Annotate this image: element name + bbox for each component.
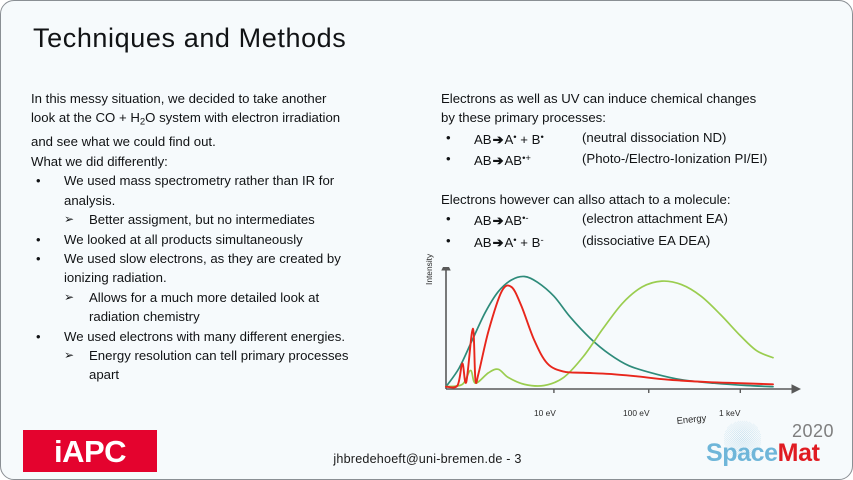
- intro-line-2-post: O system with electron irradiation: [145, 110, 340, 125]
- sub-list-item-label: Energy resolution can tell primary proce…: [89, 346, 429, 365]
- equation-reagent: AB: [474, 235, 492, 250]
- equation-description: (neutral dissociation ND): [582, 128, 849, 147]
- equation-product: AB: [505, 153, 523, 168]
- list-item-label: analysis.: [64, 191, 429, 210]
- bullet-marker: •: [31, 230, 64, 249]
- chart-y-axis-label: Intensity: [424, 269, 434, 285]
- list-item: • We used slow electrons, as they are cr…: [31, 249, 429, 268]
- sub-list-item-label: apart: [89, 365, 429, 384]
- equation-row: • AB➔AB•+ (Photo-/Electro-Ionization PI/…: [441, 149, 849, 170]
- right-content-column: Electrons as well as UV can induce chemi…: [441, 89, 849, 252]
- right-intro-2: Electrons however can allso attach to a …: [441, 190, 849, 209]
- bullet-marker: •: [31, 171, 64, 190]
- intro-line-2: look at the CO + H2O system with electro…: [31, 108, 429, 132]
- right-intro-line-1: Electrons as well as UV can induce chemi…: [441, 89, 849, 108]
- bullet-marker: •: [441, 231, 474, 250]
- list-item-continuation: analysis.: [31, 191, 429, 210]
- radical-cation-superscript: •+: [522, 153, 531, 164]
- radical-dot-icon: •: [540, 132, 543, 143]
- reaction-arrow-icon: ➔: [492, 153, 505, 168]
- equation-product: A: [505, 132, 514, 147]
- list-item: • We used electrons with many different …: [31, 327, 429, 346]
- list-item: • We looked at all products simultaneous…: [31, 230, 429, 249]
- list-item-label: ionizing radiation.: [64, 268, 429, 287]
- reaction-arrow-icon: ➔: [492, 213, 505, 228]
- spacemat-wordmark: SpaceMat: [706, 441, 820, 466]
- equation-product: AB: [505, 213, 523, 228]
- equation-row: • AB➔A• + B• (neutral dissociation ND): [441, 128, 849, 149]
- reaction-arrow-icon: ➔: [492, 132, 505, 147]
- bullet-marker: •: [441, 209, 474, 228]
- equation-product-mid: + B: [517, 235, 541, 250]
- page-title: Techniques and Methods: [33, 23, 346, 54]
- equation-formula: AB➔AB•-: [474, 209, 582, 230]
- equation-product: A: [505, 235, 514, 250]
- list-item-label: We used mass spectrometry rather than IR…: [64, 171, 429, 190]
- equation-reagent: AB: [474, 153, 492, 168]
- list-item-label: We used slow electrons, as they are crea…: [64, 249, 429, 268]
- equation-description: (electron attachment EA): [582, 209, 849, 228]
- sub-list-item-continuation: apart: [31, 365, 429, 384]
- slide-canvas: Techniques and Methods In this messy sit…: [0, 0, 853, 480]
- list-item: • We used mass spectrometry rather than …: [31, 171, 429, 190]
- spacemat-logo: 2020 SpaceMat: [698, 419, 840, 475]
- equation-row: • AB➔A• + B- (dissociative EA DEA): [441, 231, 849, 252]
- list-item-label: We used electrons with many different en…: [64, 327, 429, 346]
- anion-superscript: -: [540, 235, 543, 246]
- paragraph-spacer: [441, 171, 849, 190]
- reaction-arrow-icon: ➔: [492, 235, 505, 250]
- equation-description: (dissociative EA DEA): [582, 231, 849, 250]
- bullet-marker: •: [441, 149, 474, 168]
- bullet-marker: •: [31, 249, 64, 268]
- equation-formula: AB➔AB•+: [474, 149, 582, 170]
- equation-product-mid: + B: [517, 132, 541, 147]
- spacemat-space-text: Space: [706, 439, 778, 467]
- chart-plot-area: [428, 267, 848, 407]
- sub-list-item: ➢ Allows for a much more detailed look a…: [31, 288, 429, 307]
- list-item-label: We looked at all products simultaneously: [64, 230, 429, 249]
- equation-reagent: AB: [474, 213, 492, 228]
- sub-list-item-label: Allows for a much more detailed look at: [89, 288, 429, 307]
- bullet-marker: •: [441, 128, 474, 147]
- equation-formula: AB➔A• + B-: [474, 231, 582, 252]
- intro-line-1: In this messy situation, we decided to t…: [31, 89, 429, 108]
- intro-line-4: What we did differently:: [31, 152, 429, 171]
- energy-spectrum-chart: Intensity 10 eV 100 eV 1 keV Energy: [428, 267, 848, 431]
- radical-anion-superscript: •-: [522, 213, 529, 224]
- right-intro-line-2: by these primary processes:: [441, 108, 849, 127]
- sub-list-item-continuation: radiation chemistry: [31, 307, 429, 326]
- arrowhead-bullet-icon: ➢: [64, 210, 89, 229]
- spacemat-mat-text: Mat: [778, 439, 820, 467]
- sub-list-item-label: radiation chemistry: [89, 307, 429, 326]
- sub-list-item-label: Better assigment, but no intermediates: [89, 210, 429, 229]
- sub-list-item: ➢ Better assigment, but no intermediates: [31, 210, 429, 229]
- list-item-continuation: ionizing radiation.: [31, 268, 429, 287]
- equation-row: • AB➔AB•- (electron attachment EA): [441, 209, 849, 230]
- intro-line-3: and see what we could find out.: [31, 132, 429, 151]
- equation-reagent: AB: [474, 132, 492, 147]
- equation-formula: AB➔A• + B•: [474, 128, 582, 149]
- chart-x-tick-label: 10 eV: [534, 408, 556, 418]
- arrowhead-bullet-icon: ➢: [64, 288, 89, 307]
- sub-list-item: ➢ Energy resolution can tell primary pro…: [31, 346, 429, 365]
- arrowhead-bullet-icon: ➢: [64, 346, 89, 365]
- left-content-column: In this messy situation, we decided to t…: [31, 89, 429, 385]
- chart-x-tick-label: 100 eV: [623, 408, 650, 418]
- bullet-marker: •: [31, 327, 64, 346]
- equation-description: (Photo-/Electro-Ionization PI/EI): [582, 149, 849, 168]
- intro-line-2-pre: look at the CO + H: [31, 110, 140, 125]
